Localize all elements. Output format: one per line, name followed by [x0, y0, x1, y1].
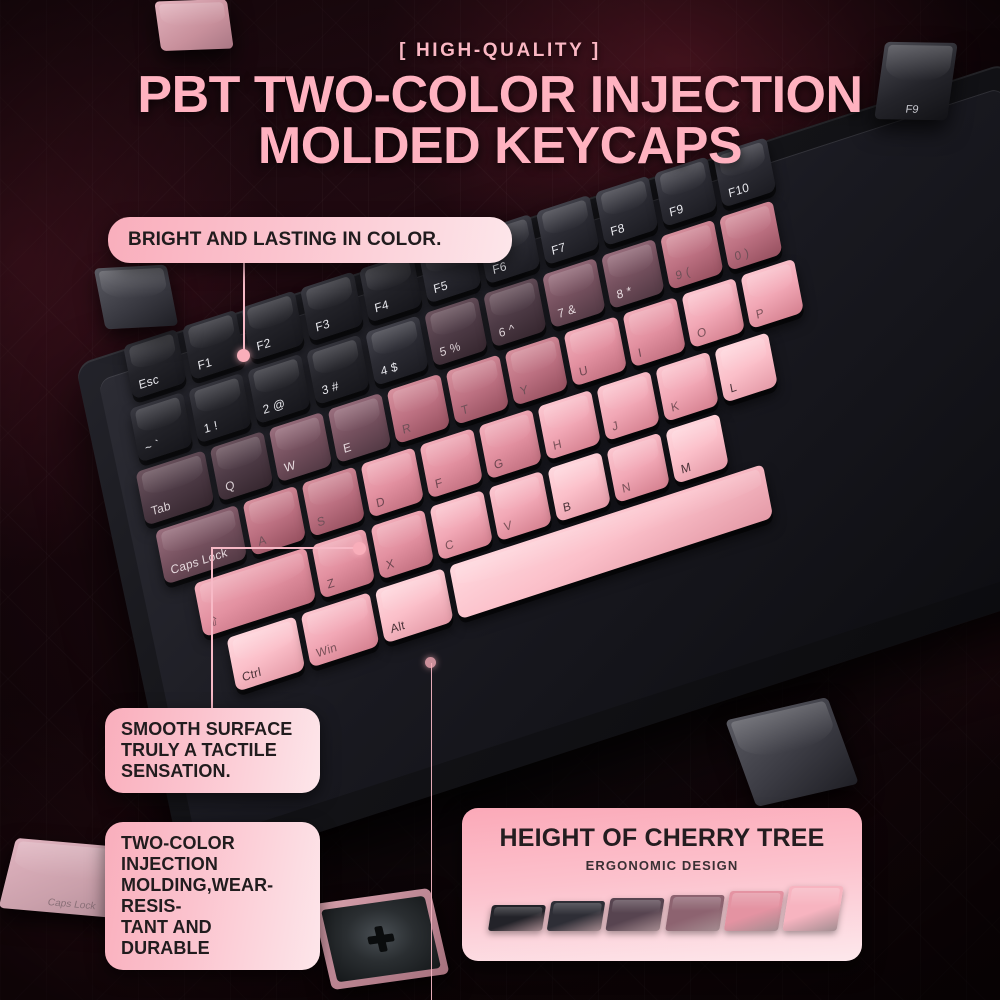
key-label: P — [755, 305, 766, 321]
key-label: G — [493, 455, 505, 472]
key-label: X — [385, 556, 396, 572]
leader-dot-ctrl — [425, 657, 436, 668]
key-g[interactable]: G — [478, 409, 542, 480]
panel-subtitle: ERGONOMIC DESIGN — [462, 858, 862, 873]
key-label: C — [444, 537, 455, 554]
switch-housing — [321, 896, 441, 983]
key-label: M — [680, 460, 692, 477]
key-d[interactable]: D — [361, 447, 425, 518]
key-label: Y — [519, 382, 530, 398]
key-ctrl[interactable]: Ctrl — [226, 616, 305, 692]
key-label: V — [503, 518, 514, 534]
key-1[interactable]: 1 ! — [188, 373, 252, 444]
key-4[interactable]: 4 $ — [365, 315, 429, 386]
key-y[interactable]: Y — [505, 335, 569, 406]
page-title-line2: MOLDED KEYCAPS — [0, 121, 1000, 172]
profile-keycap-r4 — [665, 895, 725, 931]
panel-title: HEIGHT OF CHERRY TREE — [462, 824, 862, 853]
key-label: W — [283, 458, 297, 475]
key-label: Alt — [389, 618, 406, 636]
key-space[interactable]: ~ ` — [129, 392, 193, 463]
key-label: O — [696, 324, 708, 341]
key-label: 0 ) — [733, 245, 750, 263]
key-label: ⇧ — [208, 613, 221, 630]
key-label: 7 & — [556, 301, 577, 321]
key-label: 5 % — [439, 339, 462, 360]
callout-smooth-line1: SMOOTH SURFACE — [121, 719, 304, 740]
callout-smooth-line2: TRULY A TACTILE — [121, 740, 304, 761]
key-label: Esc — [137, 372, 160, 392]
product-banner: EscF1F2F3F4F5F6F7F8F9F10~ `1 !2 @3 #4 $5… — [0, 0, 1000, 1000]
page-title-line1: PBT TWO-COLOR INJECTION — [137, 66, 862, 124]
key-label: L — [729, 380, 738, 396]
profile-keycap-r1 — [488, 905, 546, 931]
key-label: ~ ` — [144, 437, 161, 456]
panel-cherry-profile[interactable]: HEIGHT OF CHERRY TREE ERGONOMIC DESIGN — [462, 808, 862, 961]
key-label: Ctrl — [241, 664, 263, 684]
cherry-cross-stem-icon — [365, 925, 397, 954]
key-label: F4 — [373, 297, 390, 315]
eyebrow-text: [ HIGH-QUALITY ] — [0, 40, 1000, 62]
key-f3[interactable]: F3 — [300, 271, 364, 342]
leader-line-smooth-v — [211, 547, 213, 712]
key-6[interactable]: 6 ^ — [483, 277, 547, 348]
leader-dot-caps-lock — [353, 542, 366, 555]
callout-smooth-surface[interactable]: SMOOTH SURFACE TRULY A TACTILE SENSATION… — [105, 708, 320, 793]
profile-keycap-r3 — [606, 898, 665, 931]
key-k[interactable]: K — [655, 351, 719, 422]
key-a[interactable]: A — [243, 486, 307, 557]
key-5[interactable]: 5 % — [424, 296, 488, 367]
key-label: F9 — [668, 201, 685, 219]
loose-keycap-caps-lock-label: Caps Lock — [46, 897, 96, 912]
key-o[interactable]: O — [681, 278, 745, 349]
key-v[interactable]: V — [488, 471, 552, 542]
callout-bright-color-text: BRIGHT AND LASTING IN COLOR. — [128, 229, 441, 250]
leader-dot-esc — [237, 349, 250, 362]
key-l[interactable]: L — [714, 332, 778, 403]
loose-keycap-left-gray — [94, 265, 178, 330]
key-s[interactable]: S — [302, 466, 366, 537]
key-label: Z — [326, 575, 336, 591]
key-label: S — [316, 513, 327, 529]
keycap-stem-mount — [312, 888, 449, 990]
key-t[interactable]: T — [446, 354, 510, 425]
key-e[interactable]: E — [328, 393, 392, 464]
key-i[interactable]: I — [623, 297, 687, 368]
key-f7[interactable]: F7 — [536, 195, 600, 266]
key-alt[interactable]: Alt — [375, 568, 454, 644]
key-2[interactable]: 2 @ — [247, 354, 311, 425]
key-label: U — [578, 363, 589, 380]
key-label: N — [621, 479, 632, 496]
key-label: Q — [224, 477, 236, 494]
key-label: E — [342, 440, 353, 456]
leader-line-durable — [431, 663, 432, 1000]
key-label: K — [670, 398, 681, 414]
page-title: PBT TWO-COLOR INJECTION MOLDED KEYCAPS — [0, 70, 1000, 172]
profile-keycap-r2 — [547, 901, 606, 931]
callout-bright-color[interactable]: BRIGHT AND LASTING IN COLOR. — [108, 217, 512, 263]
key-u[interactable]: U — [564, 316, 628, 387]
leader-line-bright — [243, 256, 245, 356]
key-p[interactable]: P — [740, 259, 804, 330]
key-label: F7 — [550, 240, 567, 258]
key-f2[interactable]: F2 — [241, 290, 305, 361]
key-c[interactable]: C — [430, 490, 494, 561]
key-label: F5 — [432, 278, 449, 296]
key-label: 4 $ — [380, 359, 399, 378]
key-z[interactable]: Z — [312, 528, 376, 599]
key-j[interactable]: J — [596, 371, 660, 442]
key-label: 9 ( — [674, 264, 691, 282]
key-label: 1 ! — [203, 418, 219, 436]
key-win[interactable]: Win — [301, 592, 380, 668]
key-label: F10 — [727, 180, 750, 201]
key-label: F — [434, 475, 444, 491]
key-label: Tab — [150, 498, 172, 518]
key-label: F3 — [314, 316, 331, 334]
key-esc[interactable]: Esc — [123, 329, 187, 400]
key-label: T — [460, 401, 470, 417]
profile-keycap-r4b — [724, 891, 785, 931]
key-q[interactable]: Q — [210, 431, 274, 502]
callout-durable-line1: TWO-COLOR INJECTION — [121, 833, 304, 875]
key-label: Caps Lock — [169, 545, 228, 577]
key-7[interactable]: 7 & — [542, 258, 606, 329]
key-label: D — [375, 494, 386, 511]
key-b[interactable]: B — [547, 452, 611, 523]
key-8[interactable]: 8 * — [601, 239, 665, 310]
header: [ HIGH-QUALITY ] PBT TWO-COLOR INJECTION… — [0, 0, 1000, 172]
callout-durable-line3: TANT AND DURABLE — [121, 917, 304, 959]
key-label: R — [401, 420, 412, 437]
key-label: F2 — [255, 335, 272, 353]
key-label: F8 — [609, 220, 626, 238]
profile-keycap-r5 — [782, 886, 843, 931]
key-label: H — [552, 436, 563, 453]
keycap-profile-row — [490, 879, 840, 931]
key-3[interactable]: 3 # — [306, 334, 370, 405]
key-label: 2 @ — [262, 396, 287, 417]
key-x[interactable]: X — [371, 509, 435, 580]
key-0[interactable]: 0 ) — [719, 200, 783, 271]
callout-smooth-line3: SENSATION. — [121, 761, 304, 782]
key-w[interactable]: W — [269, 412, 333, 483]
callout-durable-line2: MOLDING,WEAR-RESIS- — [121, 875, 304, 917]
key-f8[interactable]: F8 — [595, 175, 659, 246]
key-n[interactable]: N — [606, 433, 670, 504]
key-label: 6 ^ — [497, 321, 515, 340]
key-f1[interactable]: F1 — [182, 310, 246, 381]
key-label: 8 * — [615, 283, 633, 302]
key-label: 3 # — [321, 378, 340, 397]
key-h[interactable]: H — [537, 390, 601, 461]
key-label: J — [611, 418, 620, 434]
key-label: Win — [315, 640, 338, 661]
key-9[interactable]: 9 ( — [660, 219, 724, 290]
key-label: B — [562, 499, 573, 515]
key-r[interactable]: R — [387, 374, 451, 445]
callout-two-color-injection[interactable]: TWO-COLOR INJECTION MOLDING,WEAR-RESIS- … — [105, 822, 320, 970]
key-m[interactable]: M — [665, 413, 729, 484]
key-tab[interactable]: Tab — [136, 450, 215, 526]
key-label: I — [637, 345, 643, 360]
key-f[interactable]: F — [420, 428, 484, 499]
leader-line-smooth-h — [211, 547, 359, 549]
key-label: F1 — [196, 355, 213, 373]
